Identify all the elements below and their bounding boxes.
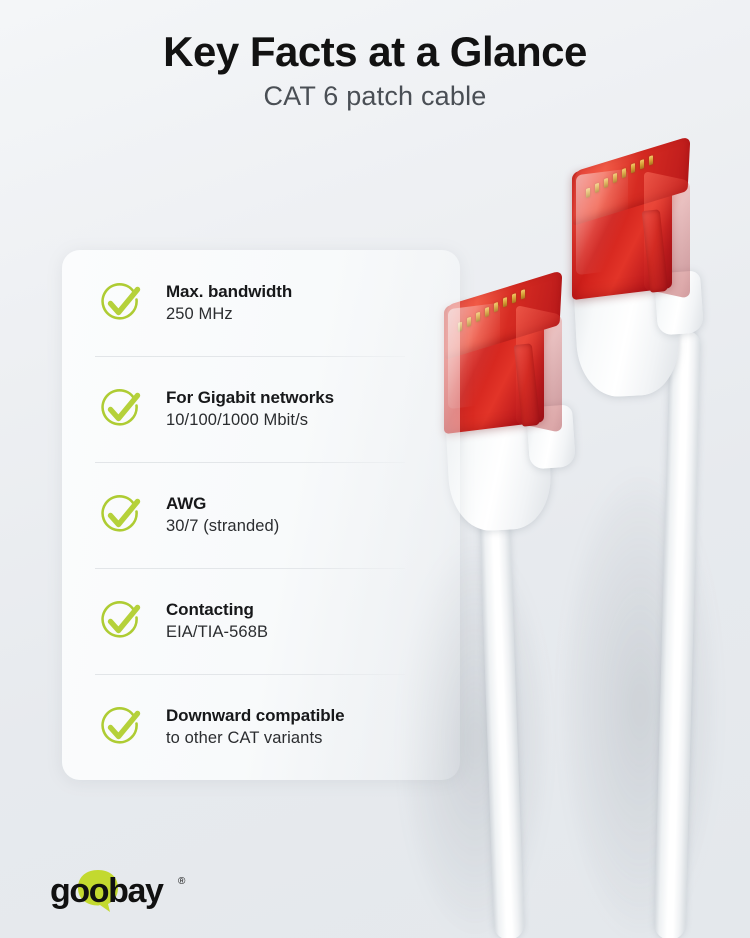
- check-circle-icon: [98, 280, 144, 326]
- key-facts-card: Max. bandwidth 250 MHz For Gigabit netwo…: [62, 250, 460, 780]
- feature-label: Downward compatible: [166, 705, 345, 726]
- feature-item-max-bandwidth: Max. bandwidth 250 MHz: [62, 250, 460, 356]
- boot-latch-guard-lower: [526, 404, 576, 469]
- strain-relief-boot-upper: [573, 265, 682, 398]
- cable-shadow-upper: [560, 470, 720, 938]
- check-circle-icon: [98, 704, 144, 750]
- latch-clip-lower: [514, 343, 540, 426]
- feature-label: For Gigabit networks: [166, 387, 334, 408]
- rj45-connector-upper: [560, 148, 750, 418]
- boot-latch-guard-upper: [654, 270, 704, 335]
- infographic-canvas: Key Facts at a Glance CAT 6 patch cable: [0, 0, 750, 938]
- strain-relief-boot-lower: [445, 399, 554, 532]
- feature-label: Contacting: [166, 599, 268, 620]
- feature-value: 250 MHz: [166, 304, 292, 325]
- feature-item-awg: AWG 30/7 (stranded): [62, 462, 460, 568]
- cable-strand-upper: [654, 330, 701, 938]
- contact-pins-lower: [458, 284, 544, 352]
- feature-text: For Gigabit networks 10/100/1000 Mbit/s: [166, 387, 334, 432]
- logo-wordmark: goobay: [50, 872, 164, 910]
- plug-gloss-upper: [576, 169, 628, 275]
- check-circle-icon: [98, 492, 144, 538]
- feature-list: Max. bandwidth 250 MHz For Gigabit netwo…: [62, 250, 460, 780]
- check-circle-icon: [98, 598, 144, 644]
- plug-side-face-lower: [516, 305, 562, 433]
- page-subtitle: CAT 6 patch cable: [0, 81, 750, 112]
- feature-value: 10/100/1000 Mbit/s: [166, 410, 334, 431]
- feature-label: Max. bandwidth: [166, 281, 292, 302]
- feature-value: to other CAT variants: [166, 728, 345, 749]
- feature-text: AWG 30/7 (stranded): [166, 493, 279, 538]
- header: Key Facts at a Glance CAT 6 patch cable: [0, 28, 750, 112]
- plug-top-face-upper: [573, 136, 691, 226]
- latch-clip-upper: [642, 209, 668, 292]
- feature-value: 30/7 (stranded): [166, 516, 279, 537]
- contact-pins-upper: [586, 150, 672, 218]
- plug-housing-upper: [572, 160, 672, 300]
- page-title: Key Facts at a Glance: [0, 28, 750, 75]
- logo-trademark: ®: [178, 876, 186, 887]
- feature-value: EIA/TIA-568B: [166, 622, 268, 643]
- feature-item-gigabit-networks: For Gigabit networks 10/100/1000 Mbit/s: [62, 356, 460, 462]
- plug-top-face-lower: [445, 270, 563, 360]
- check-circle-icon: [98, 386, 144, 432]
- feature-text: Contacting EIA/TIA-568B: [166, 599, 268, 644]
- plug-side-face-upper: [644, 171, 690, 299]
- rj45-connector-lower: [432, 282, 622, 552]
- feature-text: Max. bandwidth 250 MHz: [166, 281, 292, 326]
- cable-strand-lower: [478, 469, 524, 938]
- goobay-logo: goobay ®: [48, 868, 228, 914]
- feature-label: AWG: [166, 493, 279, 514]
- feature-text: Downward compatible to other CAT variant…: [166, 705, 345, 750]
- feature-item-downward-compatible: Downward compatible to other CAT variant…: [62, 674, 460, 780]
- feature-item-contacting: Contacting EIA/TIA-568B: [62, 568, 460, 674]
